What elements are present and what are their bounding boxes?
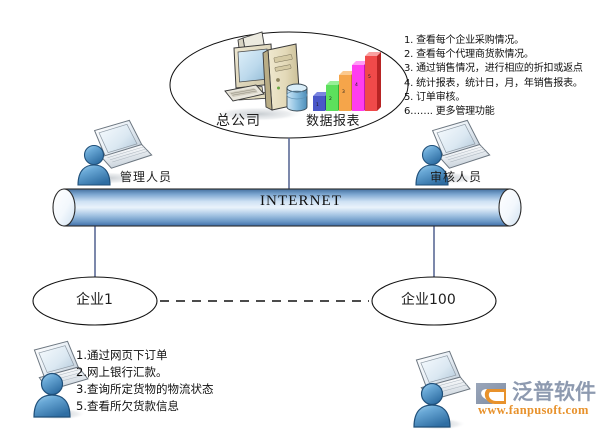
client-right-user-laptop-icon (410, 349, 471, 430)
feature-list-item-1: 1. 查看每个企业采购情况。 (404, 34, 602, 48)
feature-list-item-3: 3. 通过销售情况，进行相应的折扣或返点 (404, 62, 602, 76)
manager-label: 管理人员 (120, 168, 172, 185)
feature-list-item-4: 4. 统计报表，统计日，月，年销售报表。 (404, 77, 602, 91)
head-office-label: 总公司 (216, 110, 261, 130)
order-list-item-1: 1.通过网页下订单 (76, 347, 326, 364)
order-list-item-3: 3.查询所定货物的物流状态 (76, 381, 326, 398)
fanpu-software-logo: 泛普软件 www.fanpusoft.com (470, 375, 602, 425)
svg-text:3: 3 (342, 89, 345, 95)
logo-company-name: 泛普软件 (512, 376, 596, 406)
svg-text:4: 4 (355, 82, 358, 88)
order-list: 1.通过网页下订单 2.网上银行汇款。 3.查询所定货物的物流状态 5.查看所欠… (76, 347, 326, 415)
feature-list-item-5: 5. 订单审核。 (404, 91, 602, 105)
order-list-item-2: 2.网上银行汇款。 (76, 364, 326, 381)
enterprise-first-label: 企业1 (76, 289, 113, 309)
feature-list-item-6: 6……. 更多管理功能 (404, 105, 602, 119)
logo-website-url: www.fanpusoft.com (478, 403, 589, 418)
svg-text:5: 5 (368, 74, 371, 80)
svg-text:2: 2 (329, 96, 332, 102)
auditor-label: 审核人员 (430, 168, 482, 185)
bar-chart-3d-icon: 1 2 3 4 5 (313, 52, 381, 111)
enterprise-last-label: 企业100 (401, 289, 456, 309)
data-report-label: 数据报表 (306, 110, 360, 129)
order-list-item-4: 5.查看所欠货款信息 (76, 398, 326, 415)
desktop-computer-server-icon (213, 32, 307, 121)
internet-bar-label: INTERNET (0, 193, 602, 210)
svg-text:1: 1 (316, 102, 319, 108)
feature-list-item-2: 2. 查看每个代理商货款情况。 (404, 48, 602, 62)
feature-list: 1. 查看每个企业采购情况。 2. 查看每个代理商货款情况。 3. 通过销售情况… (404, 34, 602, 119)
